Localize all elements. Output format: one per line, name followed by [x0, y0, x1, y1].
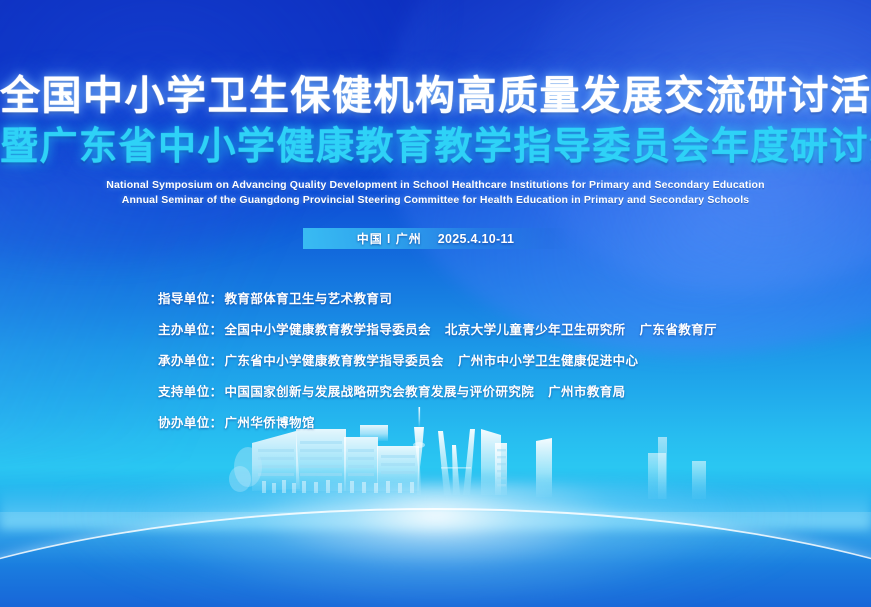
organizer-value: 广东省中小学健康教育教学指导委员会 — [225, 350, 444, 369]
bottom-sheen — [0, 512, 871, 607]
organizer-values: 教育部体育卫生与艺术教育司 — [225, 288, 393, 307]
organizer-row: 协办单位： 广州华侨博物馆 — [158, 412, 717, 431]
organizer-list: 指导单位： 教育部体育卫生与艺术教育司 主办单位： 全国中小学健康教育教学指导委… — [158, 288, 717, 443]
organizer-row: 主办单位： 全国中小学健康教育教学指导委员会 北京大学儿童青少年卫生研究所 广东… — [158, 319, 717, 338]
organizer-values: 广州华侨博物馆 — [225, 412, 315, 431]
organizer-value: 教育部体育卫生与艺术教育司 — [225, 288, 393, 307]
organizer-label: 支持单位： — [158, 381, 223, 400]
organizer-value: 广州市中小学卫生健康促进中心 — [458, 350, 639, 369]
title-line-1: 全国中小学卫生保健机构高质量发展交流研讨活动 — [0, 72, 871, 120]
organizer-label: 承办单位： — [158, 350, 223, 369]
organizer-value: 广州华侨博物馆 — [225, 412, 315, 431]
venue-city-label: 中国 l 广州 — [357, 230, 422, 247]
venue-date-label: 2025.4.10-11 — [438, 232, 515, 246]
organizer-values: 广东省中小学健康教育教学指导委员会 广州市中小学卫生健康促进中心 — [225, 350, 639, 369]
organizer-value: 北京大学儿童青少年卫生研究所 — [445, 319, 626, 338]
organizer-value: 中国国家创新与发展战略研究会教育发展与评价研究院 — [225, 381, 535, 400]
organizer-values: 中国国家创新与发展战略研究会教育发展与评价研究院 广州市教育局 — [225, 381, 626, 400]
organizer-values: 全国中小学健康教育教学指导委员会 北京大学儿童青少年卫生研究所 广东省教育厅 — [225, 319, 717, 338]
poster-title: 全国中小学卫生保健机构高质量发展交流研讨活动 暨广东省中小学健康教育教学指导委员… — [0, 72, 871, 170]
organizer-row: 指导单位： 教育部体育卫生与艺术教育司 — [158, 288, 717, 307]
subtitle-line-2: Annual Seminar of the Guangdong Provinci… — [0, 193, 871, 208]
organizer-label: 指导单位： — [158, 288, 223, 307]
organizer-value: 广东省教育厅 — [640, 319, 717, 338]
subtitle-line-1: National Symposium on Advancing Quality … — [0, 178, 871, 193]
organizer-row: 支持单位： 中国国家创新与发展战略研究会教育发展与评价研究院 广州市教育局 — [158, 381, 717, 400]
poster-subtitle-english: National Symposium on Advancing Quality … — [0, 178, 871, 208]
organizer-label: 主办单位： — [158, 319, 223, 338]
conference-poster: 全国中小学卫生保健机构高质量发展交流研讨活动 暨广东省中小学健康教育教学指导委员… — [0, 0, 871, 607]
venue-date-badge: 中国 l 广州 2025.4.10-11 — [303, 228, 569, 249]
title-line-2: 暨广东省中小学健康教育教学指导委员会年度研讨活动 — [0, 124, 871, 170]
organizer-row: 承办单位： 广东省中小学健康教育教学指导委员会 广州市中小学卫生健康促进中心 — [158, 350, 717, 369]
organizer-label: 协办单位： — [158, 412, 223, 431]
organizer-value: 全国中小学健康教育教学指导委员会 — [225, 319, 431, 338]
organizer-value: 广州市教育局 — [548, 381, 625, 400]
